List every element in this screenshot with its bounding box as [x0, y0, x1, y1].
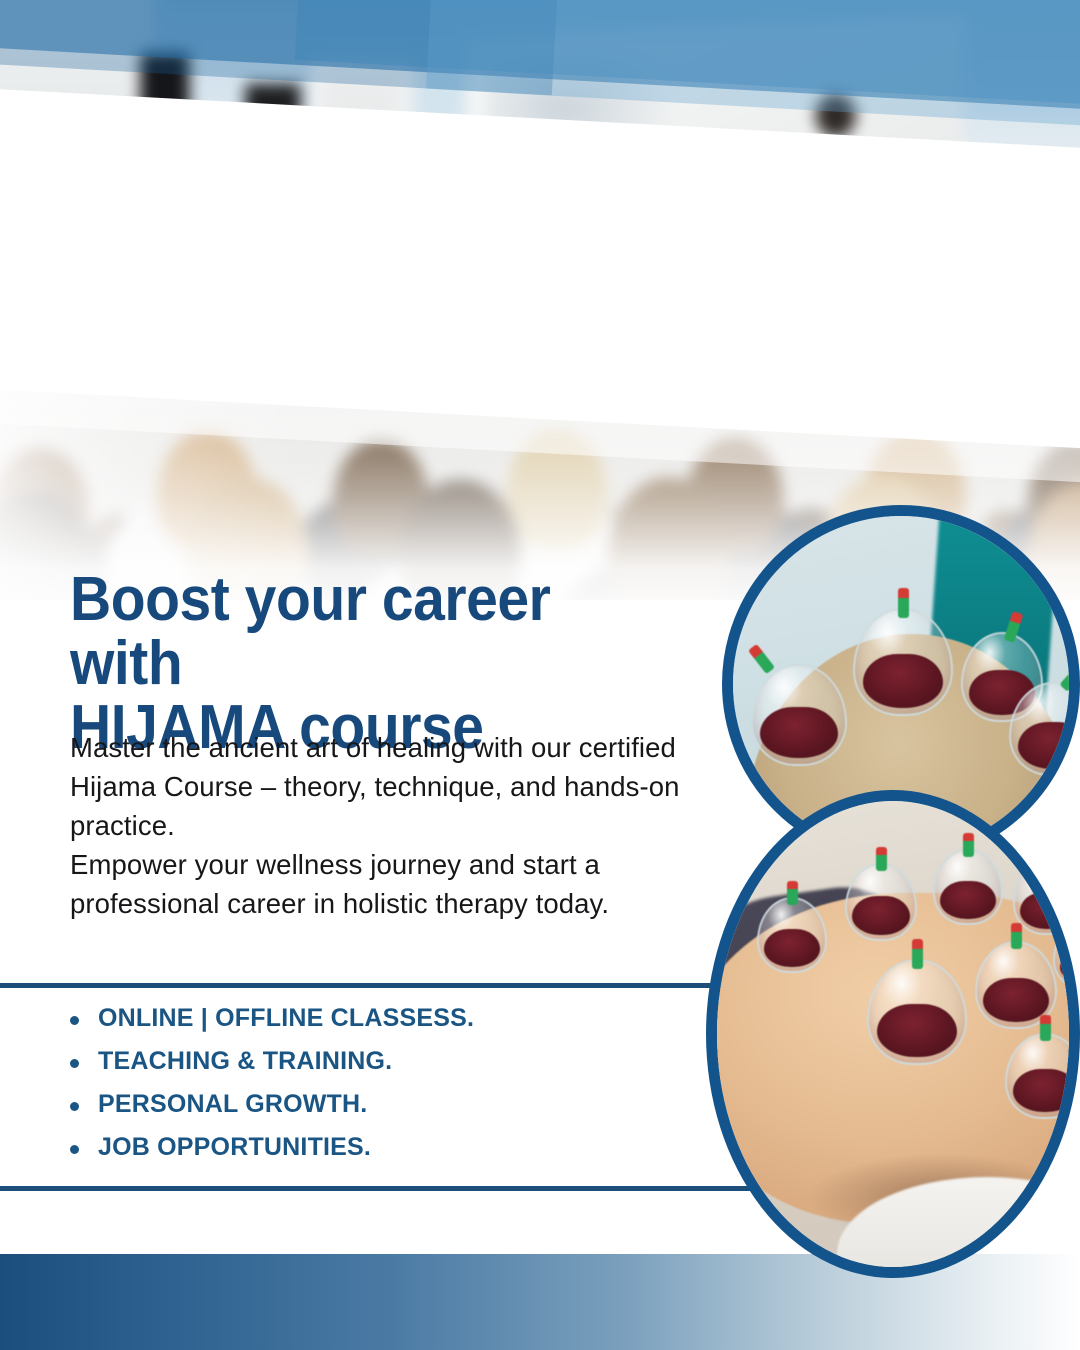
list-item: TEACHING & TRAINING. [60, 1047, 680, 1076]
divider-top [0, 983, 762, 988]
list-item: ONLINE | OFFLINE CLASSESS. [60, 1004, 680, 1033]
body-copy: Master the ancient art of healing with o… [70, 728, 680, 923]
feature-list: ONLINE | OFFLINE CLASSESS. TEACHING & TR… [60, 1004, 680, 1176]
headline-line-1: Boost your career with [70, 568, 659, 696]
photo-left-fade [0, 150, 300, 600]
list-item: PERSONAL GROWTH. [60, 1090, 680, 1119]
divider-bottom [0, 1186, 775, 1191]
body-paragraph-2: Empower your wellness journey and start … [70, 845, 680, 923]
circle-image-cupping-back [706, 790, 1080, 1278]
list-item: JOB OPPORTUNITIES. [60, 1133, 680, 1162]
poster: Boost your career with HIJAMA course Mas… [0, 0, 1080, 1350]
body-paragraph-1: Master the ancient art of healing with o… [70, 728, 680, 845]
